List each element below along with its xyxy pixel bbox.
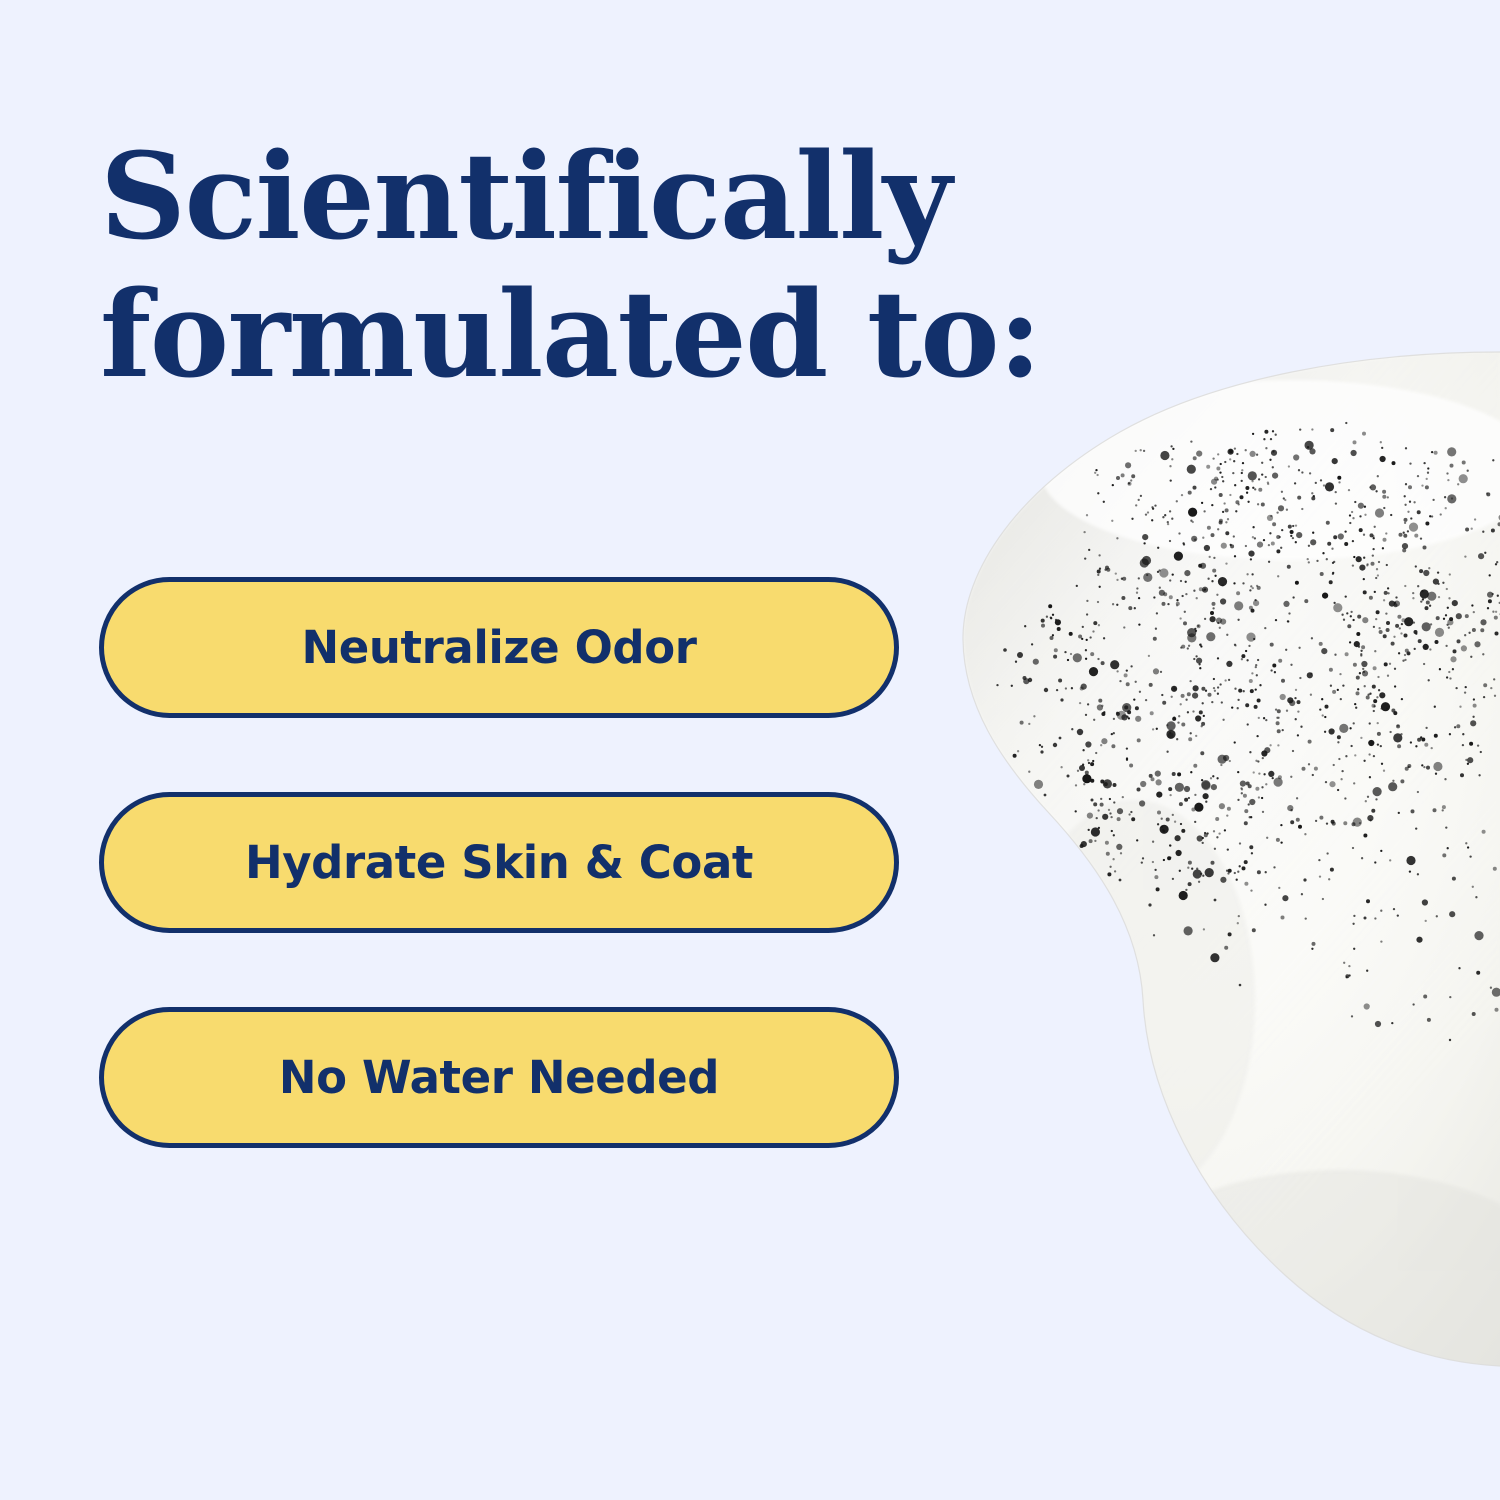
promo-graphic: Scientifically formulated to: Neutralize… [0, 0, 1500, 1500]
headline-line-2: formulated to: [100, 266, 1000, 404]
benefit-pill-no-water-needed[interactable]: No Water Needed [99, 1007, 899, 1148]
benefit-pill-hydrate-skin-coat[interactable]: Hydrate Skin & Coat [99, 792, 899, 933]
benefit-pill-label: No Water Needed [279, 1055, 719, 1100]
headline-line-1: Scientifically [100, 128, 1000, 266]
speck-cluster [996, 422, 1500, 1041]
benefit-pill-label: Hydrate Skin & Coat [245, 840, 753, 885]
benefit-pill-neutralize-odor[interactable]: Neutralize Odor [99, 577, 899, 718]
benefit-pill-label: Neutralize Odor [301, 625, 696, 670]
page-headline: Scientifically formulated to: [100, 128, 1000, 404]
benefit-pill-list: Neutralize Odor Hydrate Skin & Coat No W… [99, 577, 899, 1148]
